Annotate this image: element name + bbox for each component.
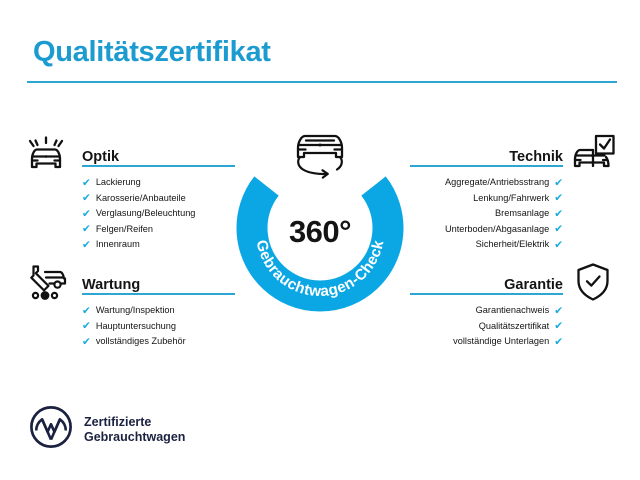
list-item-label: Sicherheit/Elektrik [476, 237, 550, 253]
section-technik-list: ✔Aggregate/Antriebsstrang ✔Lenkung/Fahrw… [410, 175, 563, 253]
check-icon: ✔ [82, 224, 91, 235]
list-item: ✔Aggregate/Antriebsstrang [410, 175, 563, 191]
check-icon: ✔ [82, 321, 91, 332]
list-item-label: Bremsanlage [495, 206, 549, 222]
section-garantie-divider [410, 293, 563, 295]
list-item-label: Innenraum [96, 237, 140, 253]
list-item: ✔Sicherheit/Elektrik [410, 237, 563, 253]
car-front-checkbox-icon [570, 133, 616, 180]
check-icon: ✔ [82, 209, 91, 220]
section-garantie-list: ✔Garantienachweis ✔Qualitätszertifikat ✔… [410, 303, 563, 350]
list-item-label: Hauptuntersuchung [96, 319, 176, 335]
list-item: ✔Hauptuntersuchung [82, 319, 235, 335]
section-optik-header: Optik [82, 141, 235, 167]
check-icon: ✔ [554, 337, 563, 348]
list-item: ✔Verglasung/Beleuchtung [82, 206, 235, 222]
section-technik-header: Technik [410, 141, 563, 167]
list-item-label: vollständige Unterlagen [453, 334, 549, 350]
check-icon: ✔ [82, 193, 91, 204]
section-optik-divider [82, 165, 235, 167]
section-optik-list: ✔Lackierung ✔Karosserie/Anbauteile ✔Verg… [82, 175, 235, 253]
list-item-label: Lenkung/Fahrwerk [473, 191, 549, 207]
list-item-label: Aggregate/Antriebsstrang [445, 175, 549, 191]
list-item-label: Garantienachweis [476, 303, 550, 319]
list-item: ✔Innenraum [82, 237, 235, 253]
check-icon: ✔ [82, 178, 91, 189]
list-item-label: Karosserie/Anbauteile [96, 191, 186, 207]
list-item: ✔Wartung/Inspektion [82, 303, 235, 319]
list-item: ✔Lenkung/Fahrwerk [410, 191, 563, 207]
list-item-label: Lackierung [96, 175, 141, 191]
car-front-shine-icon [24, 133, 68, 180]
footer-line-1: Zertifizierte [84, 415, 185, 430]
section-garantie-header: Garantie [410, 269, 563, 295]
list-item: ✔vollständiges Zubehör [82, 334, 235, 350]
section-garantie: Garantie ✔Garantienachweis ✔Qualitätszer… [410, 269, 563, 350]
footer-text: Zertifizierte Gebrauchtwagen [84, 415, 185, 445]
check-icon: ✔ [554, 193, 563, 204]
check-icon: ✔ [554, 178, 563, 189]
section-technik: Technik ✔Aggregate/Antriebsstrang ✔Lenku… [410, 141, 563, 253]
list-item: ✔Unterboden/Abgasanlage [410, 222, 563, 238]
section-wartung-title: Wartung [82, 277, 140, 293]
section-wartung-list: ✔Wartung/Inspektion ✔Hauptuntersuchung ✔… [82, 303, 235, 350]
list-item: ✔Karosserie/Anbauteile [82, 191, 235, 207]
section-garantie-title: Garantie [504, 277, 563, 293]
page-title: Qualitätszertifikat [33, 36, 271, 69]
list-item: ✔vollständige Unterlagen [410, 334, 563, 350]
check-icon: ✔ [554, 321, 563, 332]
list-item: ✔Qualitätszertifikat [410, 319, 563, 335]
car-front-rotate-icon [286, 124, 354, 191]
list-item-label: Felgen/Reifen [96, 222, 153, 238]
check-icon: ✔ [554, 240, 563, 251]
section-technik-divider [410, 165, 563, 167]
section-wartung-divider [82, 293, 235, 295]
check-icon: ✔ [82, 306, 91, 317]
footer-brand: Zertifizierte Gebrauchtwagen [29, 405, 185, 454]
list-item: ✔Garantienachweis [410, 303, 563, 319]
list-item-label: Wartung/Inspektion [96, 303, 175, 319]
list-item-label: Qualitätszertifikat [479, 319, 549, 335]
vw-logo-icon [29, 405, 73, 454]
section-optik-title: Optik [82, 149, 119, 165]
list-item-label: vollständiges Zubehör [96, 334, 186, 350]
check-icon: ✔ [82, 240, 91, 251]
check-icon: ✔ [554, 209, 563, 220]
section-technik-title: Technik [509, 149, 563, 165]
certificate-page: Qualitätszertifikat [0, 0, 640, 480]
check-icon: ✔ [82, 337, 91, 348]
title-divider [27, 81, 617, 83]
check-icon: ✔ [554, 224, 563, 235]
wrench-car-service-icon [24, 261, 68, 308]
section-wartung-header: Wartung [82, 269, 235, 295]
check-icon: ✔ [554, 306, 563, 317]
section-wartung: Wartung ✔Wartung/Inspektion ✔Hauptunters… [82, 269, 235, 350]
list-item: ✔Felgen/Reifen [82, 222, 235, 238]
list-item-label: Unterboden/Abgasanlage [445, 222, 549, 238]
footer-line-2: Gebrauchtwagen [84, 430, 185, 445]
list-item-label: Verglasung/Beleuchtung [96, 206, 196, 222]
list-item: ✔Lackierung [82, 175, 235, 191]
section-optik: Optik ✔Lackierung ✔Karosserie/Anbauteile… [82, 141, 235, 253]
list-item: ✔Bremsanlage [410, 206, 563, 222]
shield-check-icon [574, 261, 612, 308]
